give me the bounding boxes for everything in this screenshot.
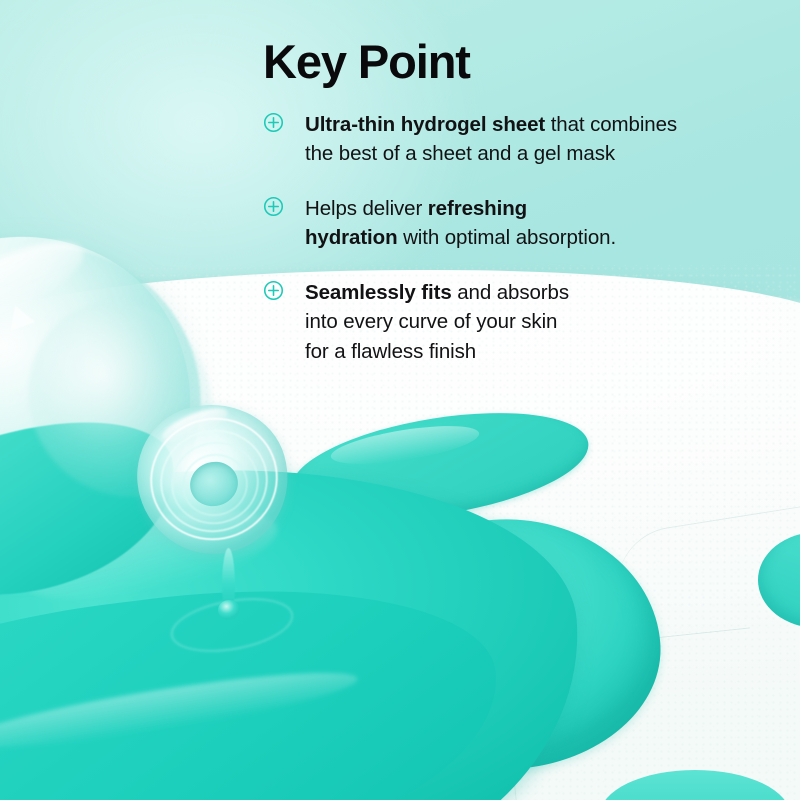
- body-text: that combines: [545, 113, 677, 136]
- list-item: Helps deliver refreshinghydration with o…: [263, 194, 783, 252]
- list-item-line: Seamlessly fits and absorbs: [305, 278, 783, 307]
- emphasis-text: refreshing: [428, 197, 527, 220]
- list-item-line: hydration with optimal absorption.: [305, 223, 783, 252]
- list-item-line: into every curve of your skin: [305, 307, 783, 336]
- plus-circle-icon: [263, 112, 284, 133]
- body-text: the best of a sheet and a gel mask: [305, 142, 615, 165]
- body-text: with optimal absorption.: [398, 226, 617, 249]
- emphasis-text: Seamlessly fits: [305, 281, 452, 304]
- emphasis-text: Ultra-thin hydrogel sheet: [305, 113, 545, 136]
- body-text: Helps deliver: [305, 197, 428, 220]
- key-point-content: Key Point Ultra-thin hydrogel sheet that…: [263, 38, 783, 366]
- list-item-line: Ultra-thin hydrogel sheet that combines: [305, 110, 783, 139]
- plus-circle-icon: [263, 196, 284, 217]
- emphasis-text: hydration: [305, 226, 398, 249]
- body-text: for a flawless finish: [305, 340, 476, 363]
- list-item-line: the best of a sheet and a gel mask: [305, 139, 783, 168]
- serum-drip-bead: [218, 600, 240, 620]
- list-item: Ultra-thin hydrogel sheet that combinest…: [263, 110, 783, 168]
- page-title: Key Point: [263, 38, 783, 86]
- list-item-line: for a flawless finish: [305, 337, 783, 366]
- body-text: and absorbs: [452, 281, 569, 304]
- body-text: into every curve of your skin: [305, 310, 557, 333]
- key-point-list: Ultra-thin hydrogel sheet that combinest…: [263, 110, 783, 366]
- key-point-infographic: Key Point Ultra-thin hydrogel sheet that…: [0, 0, 800, 800]
- list-item-line: Helps deliver refreshing: [305, 194, 783, 223]
- list-item: Seamlessly fits and absorbsinto every cu…: [263, 278, 783, 365]
- plus-circle-icon: [263, 280, 284, 301]
